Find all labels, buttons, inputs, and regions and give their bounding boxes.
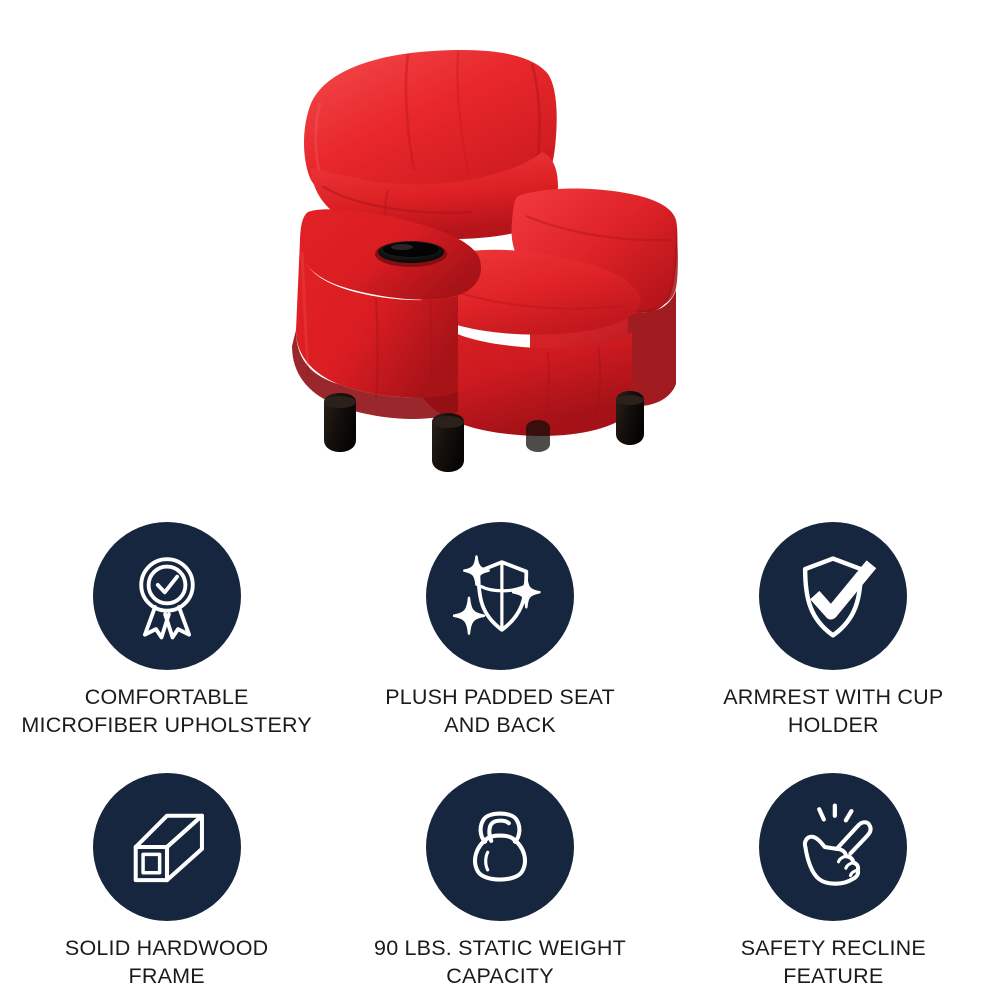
feature-caption: 90 LBS. STATIC WEIGHT CAPACITY — [374, 934, 626, 991]
feature-item-static-weight-capacity: 90 LBS. STATIC WEIGHT CAPACITY — [333, 749, 666, 1000]
feature-badge-circle — [93, 522, 241, 670]
feature-badge-circle — [426, 773, 574, 921]
feature-caption: SAFETY RECLINE FEATURE — [741, 934, 926, 991]
kettlebell-icon — [456, 803, 544, 891]
feature-caption: ARMREST WITH CUP HOLDER — [723, 683, 943, 740]
feature-grid: COMFORTABLE MICROFIBER UPHOLSTERY PLUSH … — [0, 498, 1000, 1000]
shield-checkmark-icon — [785, 548, 881, 644]
feature-badge-circle — [93, 773, 241, 921]
feature-badge-circle — [759, 773, 907, 921]
product-hero-image — [0, 0, 1000, 495]
feature-badge-circle — [759, 522, 907, 670]
feature-badge-circle — [426, 522, 574, 670]
feature-item-armrest-with-cup-holder: ARMREST WITH CUP HOLDER — [667, 498, 1000, 749]
recliner-chair-photo — [280, 40, 720, 480]
foot-back-left — [526, 420, 550, 452]
feature-item-comfortable-microfiber-upholstery: COMFORTABLE MICROFIBER UPHOLSTERY — [0, 498, 333, 749]
hardwood-beam-icon — [121, 801, 213, 893]
hand-pinch-gesture-icon — [787, 801, 879, 893]
feature-item-plush-padded-seat-and-back: PLUSH PADDED SEAT AND BACK — [333, 498, 666, 749]
sparkling-shield-icon — [453, 549, 547, 643]
feature-item-safety-recline-feature: SAFETY RECLINE FEATURE — [667, 749, 1000, 1000]
feature-caption: SOLID HARDWOOD FRAME — [65, 934, 268, 991]
award-ribbon-check-icon — [121, 550, 213, 642]
feature-caption: PLUSH PADDED SEAT AND BACK — [385, 683, 615, 740]
feature-caption: COMFORTABLE MICROFIBER UPHOLSTERY — [21, 683, 312, 740]
feature-item-solid-hardwood-frame: SOLID HARDWOOD FRAME — [0, 749, 333, 1000]
